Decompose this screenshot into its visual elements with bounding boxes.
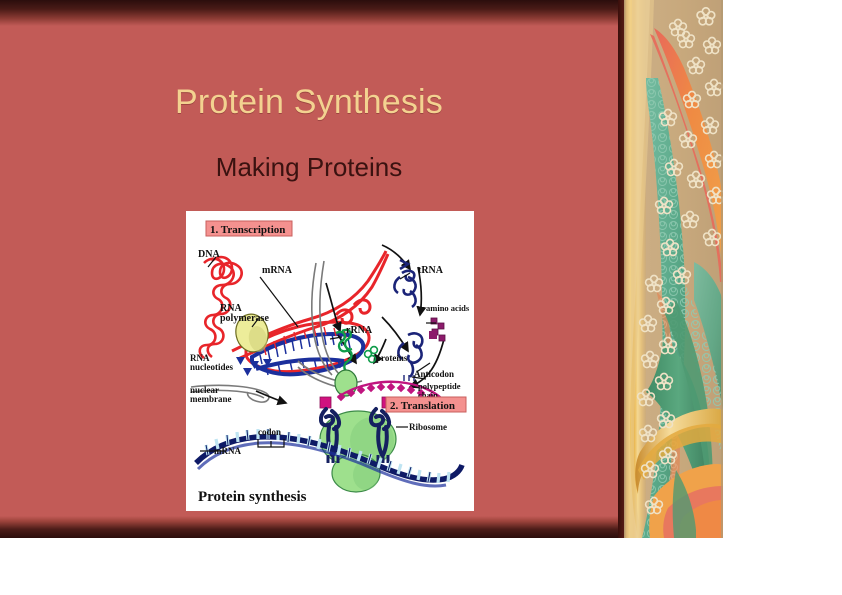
figure-banner-transcription-label: 1. Transcription — [210, 224, 285, 236]
figure-label-trna: tRNA — [418, 265, 444, 276]
figure-label-rrna: rRNA — [346, 325, 373, 336]
figure-caption: Protein synthesis — [198, 489, 307, 505]
page-title: Protein Synthesis — [0, 83, 618, 122]
figure-label-ribosome: Ribosome — [409, 422, 447, 432]
figure-banner-transcription: 1. Transcription — [206, 221, 292, 236]
figure-banner-translation-label: 2. Translation — [390, 400, 455, 412]
figure-banner-translation: 2. Translation — [386, 397, 466, 412]
presentation-slide: Protein Synthesis Making Proteins — [0, 0, 618, 538]
figure-label-amino-acids: amino acids — [426, 303, 470, 313]
figure-label-anticodon: Anticodon — [414, 369, 454, 379]
figure-label-codon: codon — [258, 427, 281, 437]
slide-top-gradient — [0, 0, 618, 26]
figure-label-mrna-bottom: mRNA — [214, 446, 241, 456]
decorative-border-panel — [624, 0, 723, 538]
figure-label-proteins: proteins — [376, 353, 408, 363]
page-subtitle: Making Proteins — [0, 152, 618, 183]
figure-label-dna: DNA — [198, 249, 220, 260]
protein-synthesis-diagram: DNA mRNA RNApolymerase RNAnucleotides nu… — [186, 211, 474, 511]
slide-bottom-gradient — [0, 516, 618, 538]
slide-canvas: Protein Synthesis Making Proteins — [0, 0, 842, 595]
figure-label-mrna: mRNA — [262, 265, 293, 276]
